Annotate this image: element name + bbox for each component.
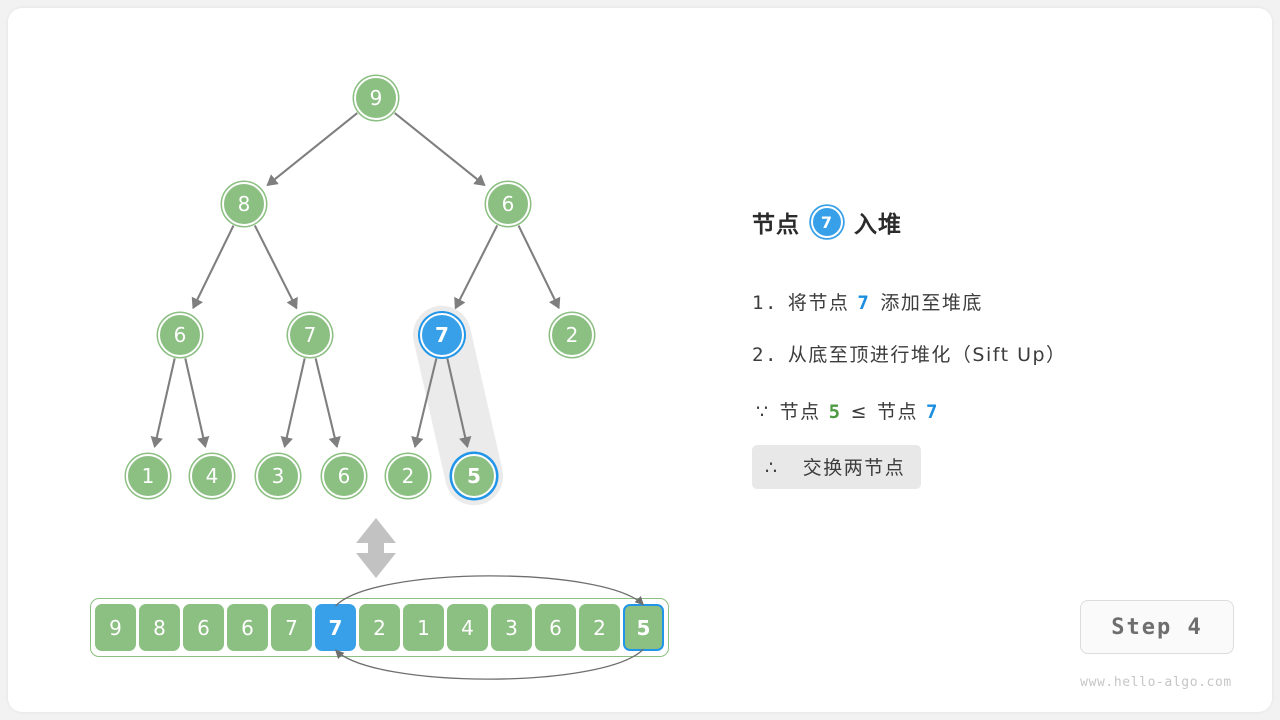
tree-node-6-2: 6 <box>486 182 530 226</box>
array-cell-3: 6 <box>227 604 268 651</box>
array-cell-12: 5 <box>623 604 664 651</box>
tree-node-5-12: 5 <box>452 454 496 498</box>
tree-node-6-10: 6 <box>322 454 366 498</box>
tree-node-7-4: 7 <box>288 313 332 357</box>
array-cell-1: 8 <box>139 604 180 651</box>
tree-node-2-6: 2 <box>550 313 594 357</box>
step-1-value: 7 <box>857 292 870 314</box>
tree-node-8-1: 8 <box>222 182 266 226</box>
reason-text-a: 节点 <box>780 397 821 424</box>
reason-value-b: 7 <box>926 401 939 423</box>
tree-node-1-7: 1 <box>126 454 170 498</box>
array-cell-6: 2 <box>359 604 400 651</box>
step-1-text-a: 将节点 <box>788 288 850 315</box>
heap-array: 9866772143625 <box>90 598 669 657</box>
array-cell-2: 6 <box>183 604 224 651</box>
array-cell-5: 7 <box>315 604 356 651</box>
reason-value-a: 5 <box>829 401 842 423</box>
array-cell-0: 9 <box>95 604 136 651</box>
panel-title: 节点 7 入堆 <box>752 205 1252 239</box>
tree-node-4-8: 4 <box>190 454 234 498</box>
illustration-canvas: 9866772143625 9866772143625 Step 4 www.h… <box>0 0 1280 720</box>
conclusion-box: ∴ 交换两节点 <box>752 445 921 489</box>
array-cell-4: 7 <box>271 604 312 651</box>
tree-node-7-5: 7 <box>420 313 464 357</box>
step-2-text: 从底至顶进行堆化（Sift Up） <box>788 340 1067 367</box>
array-cell-10: 6 <box>535 604 576 651</box>
step-2-line: 2. 从底至顶进行堆化（Sift Up） <box>752 340 1067 367</box>
reason-line: ∵ 节点 5 ≤ 节点 7 <box>756 397 939 424</box>
array-cell-8: 4 <box>447 604 488 651</box>
panel-title-suffix: 入堆 <box>854 205 902 239</box>
reason-text-b: 节点 <box>877 397 918 424</box>
conclusion-line: ∴ 交换两节点 <box>752 445 921 489</box>
step-1-index: 1. <box>752 292 778 314</box>
step-1-text-b: 添加至堆底 <box>880 288 983 315</box>
step-badge: Step 4 <box>1080 600 1234 654</box>
step-2-index: 2. <box>752 344 778 366</box>
panel-title-node-badge: 7 <box>811 206 843 238</box>
array-cell-7: 1 <box>403 604 444 651</box>
therefore-symbol: ∴ <box>765 457 779 479</box>
tree-node-2-11: 2 <box>386 454 430 498</box>
tree-node-9-0: 9 <box>354 76 398 120</box>
tree-node-6-3: 6 <box>158 313 202 357</box>
panel-title-prefix: 节点 <box>752 205 800 239</box>
step-1-line: 1. 将节点 7 添加至堆底 <box>752 288 983 315</box>
array-cell-9: 3 <box>491 604 532 651</box>
watermark: www.hello-algo.com <box>1070 675 1242 690</box>
because-symbol: ∵ <box>756 401 770 423</box>
conclusion-text: 交换两节点 <box>803 457 906 479</box>
tree-node-3-9: 3 <box>256 454 300 498</box>
explanation-panel: 节点 7 入堆 1. 将节点 7 添加至堆底 2. 从底至顶进行堆化（Sift … <box>752 205 1252 239</box>
array-cell-11: 2 <box>579 604 620 651</box>
reason-operator: ≤ <box>851 401 868 423</box>
